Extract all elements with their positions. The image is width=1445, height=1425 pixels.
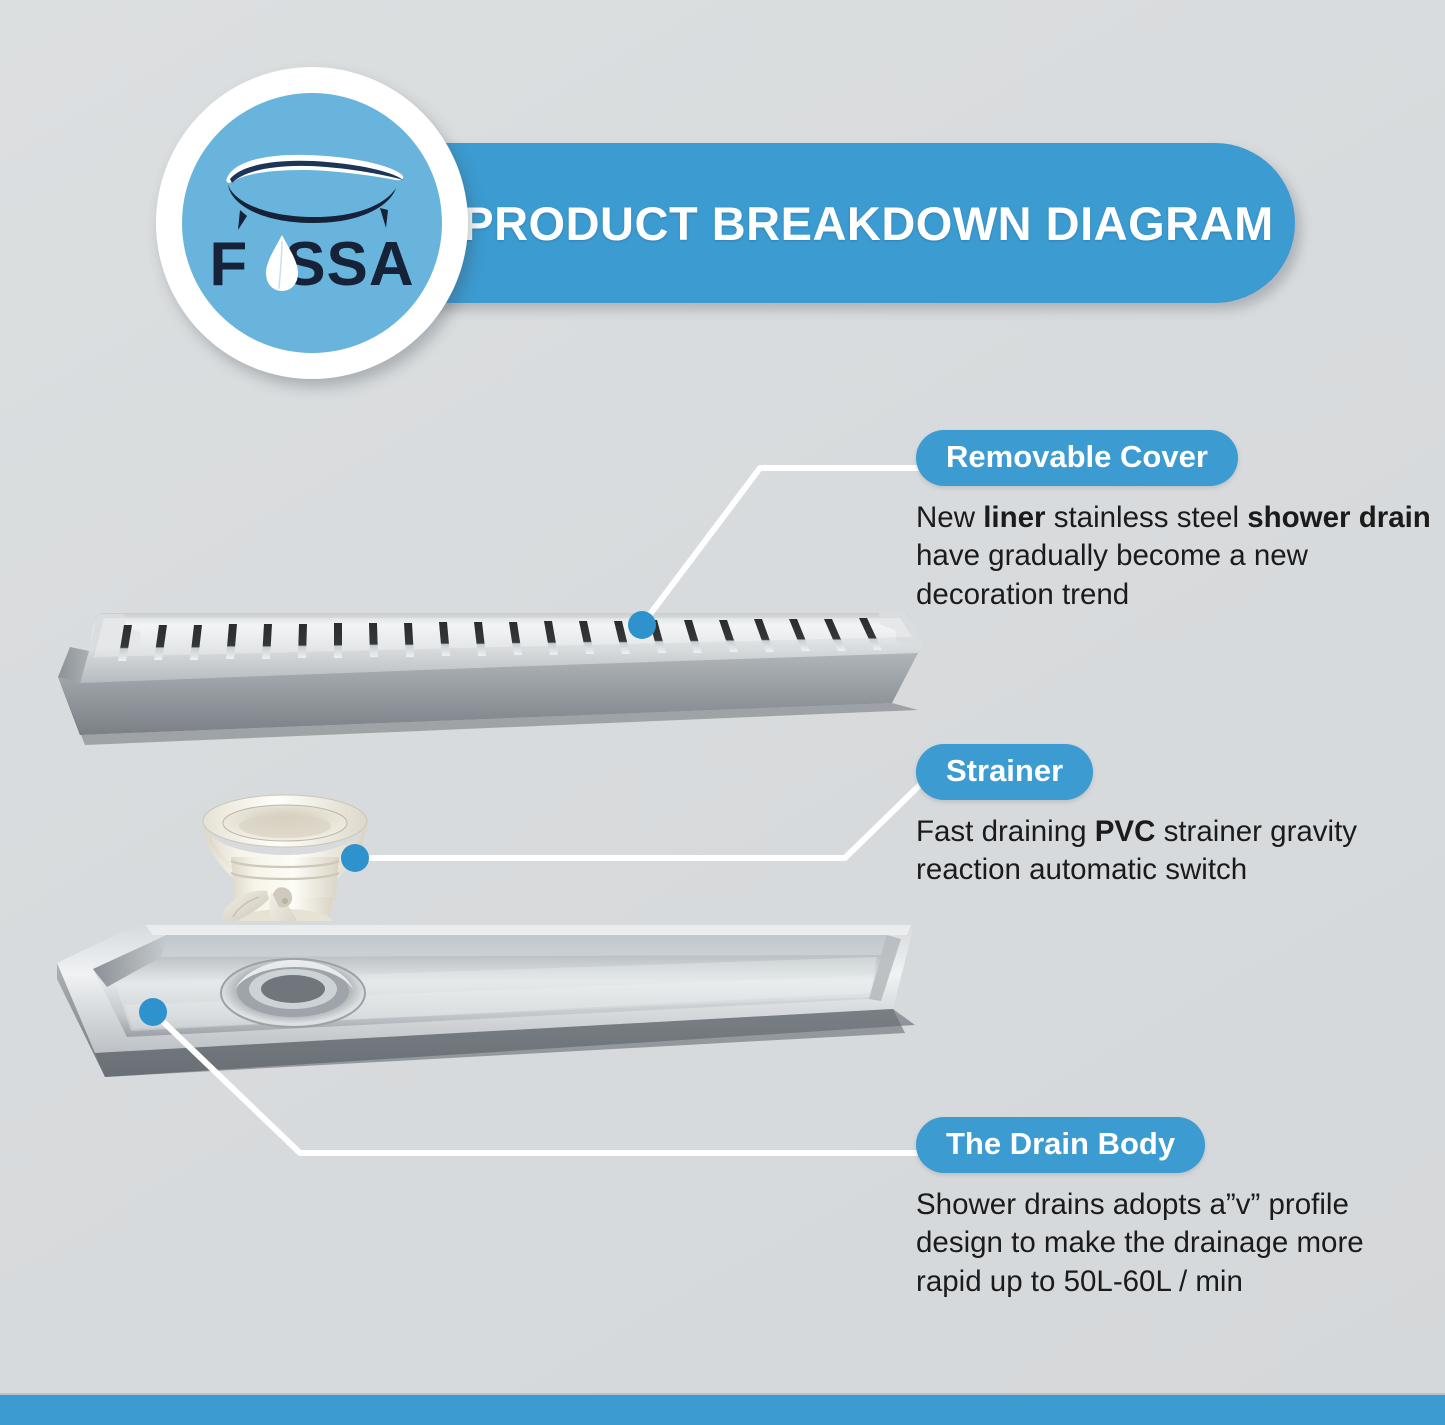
drain-body-image xyxy=(35,905,930,1095)
callout-removable-cover: Removable Cover New liner stainless stee… xyxy=(916,430,1436,614)
page-title: PRODUCT BREAKDOWN DIAGRAM xyxy=(475,143,1261,303)
callout-label-removable-cover[interactable]: Removable Cover xyxy=(916,430,1238,486)
callout-label-strainer[interactable]: Strainer xyxy=(916,744,1093,800)
logo-letters-f: F xyxy=(209,234,248,296)
brand-logo-badge: F SSA xyxy=(156,67,468,379)
logo-wordmark: F SSA xyxy=(209,234,414,296)
callout-description-removable-cover: New liner stainless steel shower drain h… xyxy=(916,499,1436,614)
callout-description-the-drain-body: Shower drains adopts a”v” profile design… xyxy=(916,1186,1436,1301)
callout-strainer: Strainer Fast draining PVC strainer grav… xyxy=(916,744,1436,890)
logo-letters-ssa: SSA xyxy=(284,234,414,296)
callout-the-drain-body: The Drain Body Shower drains adopts a”v”… xyxy=(916,1117,1436,1301)
bathtub-icon xyxy=(214,150,410,232)
footer-accent-bar xyxy=(0,1393,1445,1425)
callout-description-strainer: Fast draining PVC strainer gravity react… xyxy=(916,813,1436,890)
diagram-canvas: PRODUCT BREAKDOWN DIAGRAM F SSA xyxy=(0,0,1445,1425)
callout-label-the-drain-body[interactable]: The Drain Body xyxy=(916,1117,1205,1173)
logo-disc: F SSA xyxy=(182,93,442,353)
water-drop-icon xyxy=(265,234,299,292)
drain-cover-image xyxy=(40,585,960,760)
